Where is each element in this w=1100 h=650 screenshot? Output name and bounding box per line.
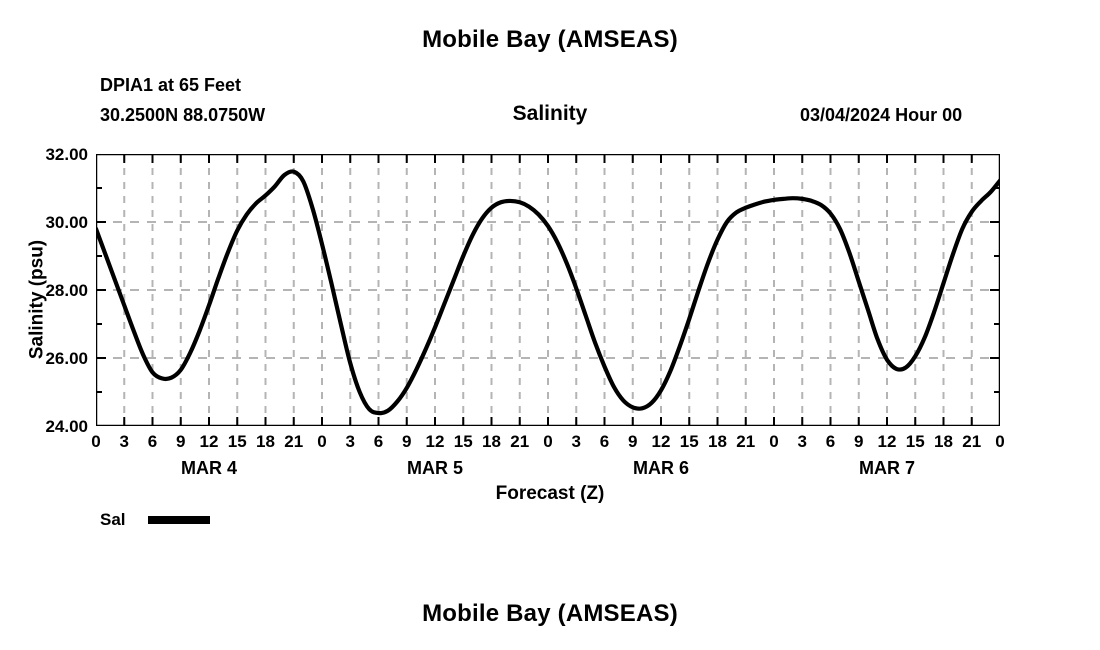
x-tick-label: 21 <box>510 432 529 452</box>
series-line-sal <box>96 171 1000 413</box>
x-tick-label: 9 <box>402 432 411 452</box>
x-axis-tick-labels: 0369121518210369121518210369121518210369… <box>96 432 1000 456</box>
x-tick-label: 9 <box>176 432 185 452</box>
x-axis-label: Forecast (Z) <box>0 484 1100 503</box>
x-day-label: MAR 4 <box>181 458 237 479</box>
x-tick-label: 0 <box>91 432 100 452</box>
x-tick-label: 18 <box>708 432 727 452</box>
y-tick-label: 28.00 <box>4 281 88 301</box>
salinity-line-chart <box>96 154 1000 426</box>
x-tick-label: 3 <box>346 432 355 452</box>
x-tick-label: 0 <box>317 432 326 452</box>
x-tick-label: 15 <box>906 432 925 452</box>
x-tick-label: 3 <box>120 432 129 452</box>
x-tick-label: 18 <box>256 432 275 452</box>
legend-swatch-sal <box>148 516 210 524</box>
x-tick-label: 18 <box>482 432 501 452</box>
top-title: Mobile Bay (AMSEAS) <box>0 28 1100 52</box>
x-tick-label: 6 <box>148 432 157 452</box>
x-tick-label: 21 <box>284 432 303 452</box>
x-tick-label: 12 <box>652 432 671 452</box>
x-tick-label: 9 <box>854 432 863 452</box>
plot-area <box>96 154 1000 426</box>
y-tick-label: 26.00 <box>4 349 88 369</box>
model-run-timestamp: 03/04/2024 Hour 00 <box>800 106 962 124</box>
x-tick-label: 12 <box>200 432 219 452</box>
y-axis-tick-labels: 32.0030.0028.0026.0024.00 <box>0 154 88 426</box>
x-tick-label: 0 <box>769 432 778 452</box>
x-tick-label: 15 <box>228 432 247 452</box>
x-tick-label: 12 <box>426 432 445 452</box>
x-tick-label: 0 <box>543 432 552 452</box>
x-tick-label: 21 <box>962 432 981 452</box>
y-tick-label: 32.00 <box>4 145 88 165</box>
x-tick-label: 3 <box>798 432 807 452</box>
x-tick-label: 6 <box>600 432 609 452</box>
x-tick-label: 15 <box>454 432 473 452</box>
legend: Sal <box>100 508 210 532</box>
x-day-label: MAR 5 <box>407 458 463 479</box>
x-axis-day-labels: MAR 4MAR 5MAR 6MAR 7 <box>96 458 1000 482</box>
x-tick-label: 21 <box>736 432 755 452</box>
bottom-title: Mobile Bay (AMSEAS) <box>0 602 1100 626</box>
y-tick-label: 24.00 <box>4 417 88 437</box>
x-day-label: MAR 7 <box>859 458 915 479</box>
legend-label-sal: Sal <box>100 510 126 530</box>
x-tick-label: 6 <box>374 432 383 452</box>
x-tick-label: 6 <box>826 432 835 452</box>
x-tick-label: 3 <box>572 432 581 452</box>
station-info: DPIA1 at 65 Feet <box>100 76 241 94</box>
x-tick-label: 0 <box>995 432 1004 452</box>
x-tick-label: 18 <box>934 432 953 452</box>
x-tick-label: 9 <box>628 432 637 452</box>
y-tick-label: 30.00 <box>4 213 88 233</box>
x-tick-label: 15 <box>680 432 699 452</box>
x-day-label: MAR 6 <box>633 458 689 479</box>
x-tick-label: 12 <box>878 432 897 452</box>
chart-page: Mobile Bay (AMSEAS) DPIA1 at 65 Feet 30.… <box>0 0 1100 650</box>
